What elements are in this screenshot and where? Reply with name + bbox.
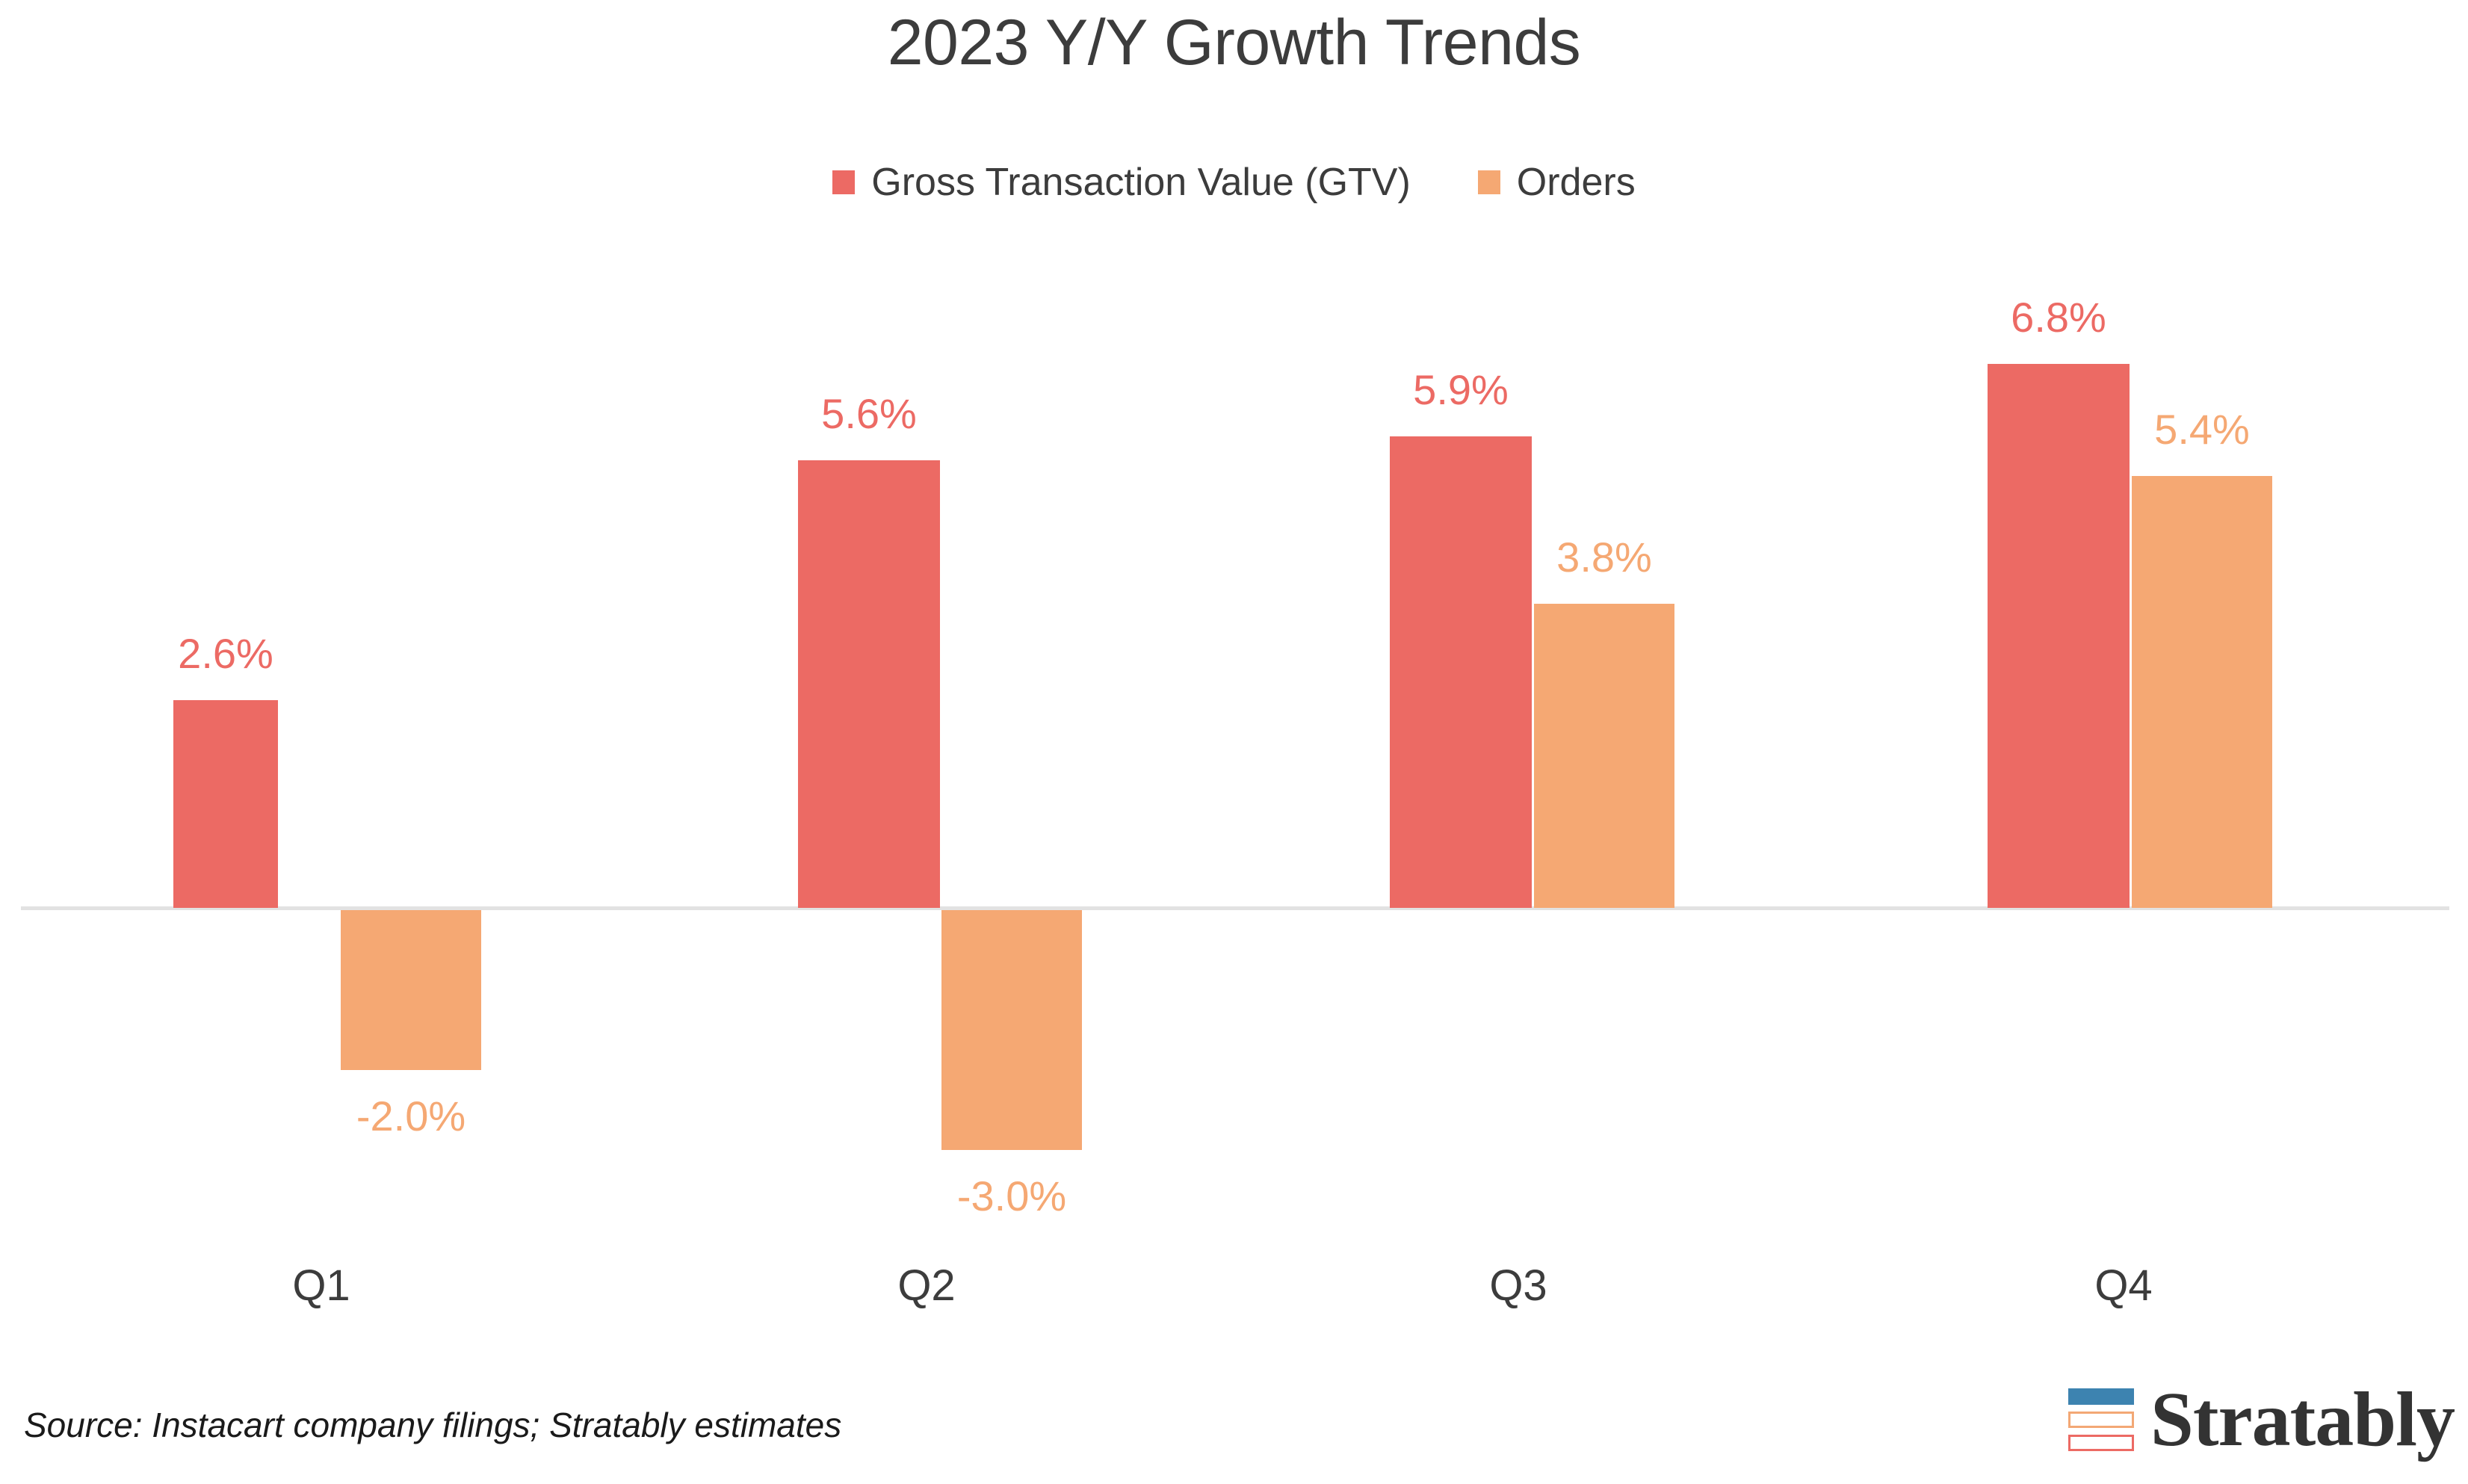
bar-label-q3-orders: 3.8% <box>1515 537 1694 578</box>
bar-q2-gtv[interactable] <box>798 460 940 908</box>
bar-label-q2-gtv: 5.6% <box>779 393 959 435</box>
bar-label-q1-orders: -2.0% <box>321 1095 501 1137</box>
bar-q4-gtv[interactable] <box>1988 364 2130 908</box>
stratably-logo: Stratably <box>2068 1381 2455 1459</box>
logo-bar-blue-icon <box>2068 1388 2134 1405</box>
bar-q3-gtv[interactable] <box>1390 436 1532 908</box>
logo-bar-orange-icon <box>2068 1412 2134 1428</box>
bar-q2-orders[interactable] <box>941 910 1082 1150</box>
bar-q4-orders[interactable] <box>2132 476 2272 908</box>
bar-q1-gtv[interactable] <box>173 700 278 908</box>
logo-bar-red-icon <box>2068 1435 2134 1451</box>
bar-q3-orders[interactable] <box>1534 604 1674 908</box>
axis-label-q2: Q2 <box>837 1264 1016 1308</box>
logo-wordmark: Stratably <box>2150 1381 2455 1459</box>
bar-label-q2-orders: -3.0% <box>922 1175 1101 1217</box>
source-note: Source: Instacart company filings; Strat… <box>24 1405 841 1445</box>
chart-container: 2023 Y/Y Growth Trends Gross Transaction… <box>0 0 2468 1484</box>
bar-label-q4-gtv: 6.8% <box>1969 297 2148 338</box>
bar-q1-orders[interactable] <box>341 910 481 1070</box>
stratably-logo-mark-icon <box>2068 1388 2134 1451</box>
axis-label-q3: Q3 <box>1429 1264 1608 1308</box>
axis-label-q4: Q4 <box>2034 1264 2213 1308</box>
plot-area: 2.6% -2.0% Q1 5.6% -3.0% Q2 5.9% 3.8% Q3… <box>0 0 2468 1484</box>
axis-label-q1: Q1 <box>232 1264 411 1308</box>
bar-label-q3-gtv: 5.9% <box>1371 369 1550 411</box>
bar-label-q4-orders: 5.4% <box>2112 409 2292 451</box>
bar-label-q1-gtv: 2.6% <box>136 633 315 675</box>
